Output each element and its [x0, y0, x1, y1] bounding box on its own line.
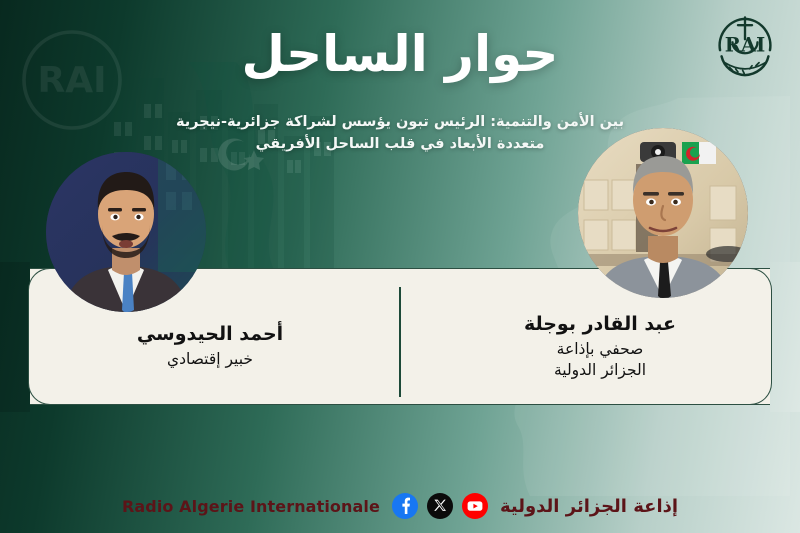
x-twitter-icon[interactable] — [427, 493, 453, 519]
footer-arabic-label: إذاعة الجزائر الدولية — [500, 496, 678, 517]
footer-bar: Radio Algerie Internationale — [0, 493, 800, 519]
social-links — [392, 493, 488, 519]
facebook-icon[interactable] — [392, 493, 418, 519]
guest-right-role-line1: صحفي بإذاعة — [450, 339, 750, 360]
youtube-icon[interactable] — [462, 493, 488, 519]
guest-right-role-line2: الجزائر الدولية — [450, 360, 750, 381]
guest-left-role: خبير إقتصادي — [60, 349, 360, 370]
guest-right-name: عبد القادر بوجلة — [450, 312, 750, 337]
panel-vertical-divider — [399, 287, 401, 397]
guest-left-info: أحمد الحيدوسي خبير إقتصادي — [60, 322, 360, 370]
guest-portrait-left — [46, 152, 206, 312]
guest-portrait-right — [578, 128, 748, 298]
guest-right-info: عبد القادر بوجلة صحفي بإذاعة الجزائر الد… — [450, 312, 750, 381]
broadcast-graphic-canvas: RAI RAI حوار الساحل بين الأمن والتنمية: … — [0, 0, 800, 533]
episode-subtitle: بين الأمن والتنمية: الرئيس تبون يؤسس لشر… — [150, 112, 650, 156]
panel-mask-right — [770, 262, 800, 412]
guest-left-name: أحمد الحيدوسي — [60, 322, 360, 347]
program-title: حوار الساحل — [0, 28, 800, 81]
panel-mask-left — [0, 262, 30, 412]
footer-latin-label: Radio Algerie Internationale — [122, 497, 380, 516]
